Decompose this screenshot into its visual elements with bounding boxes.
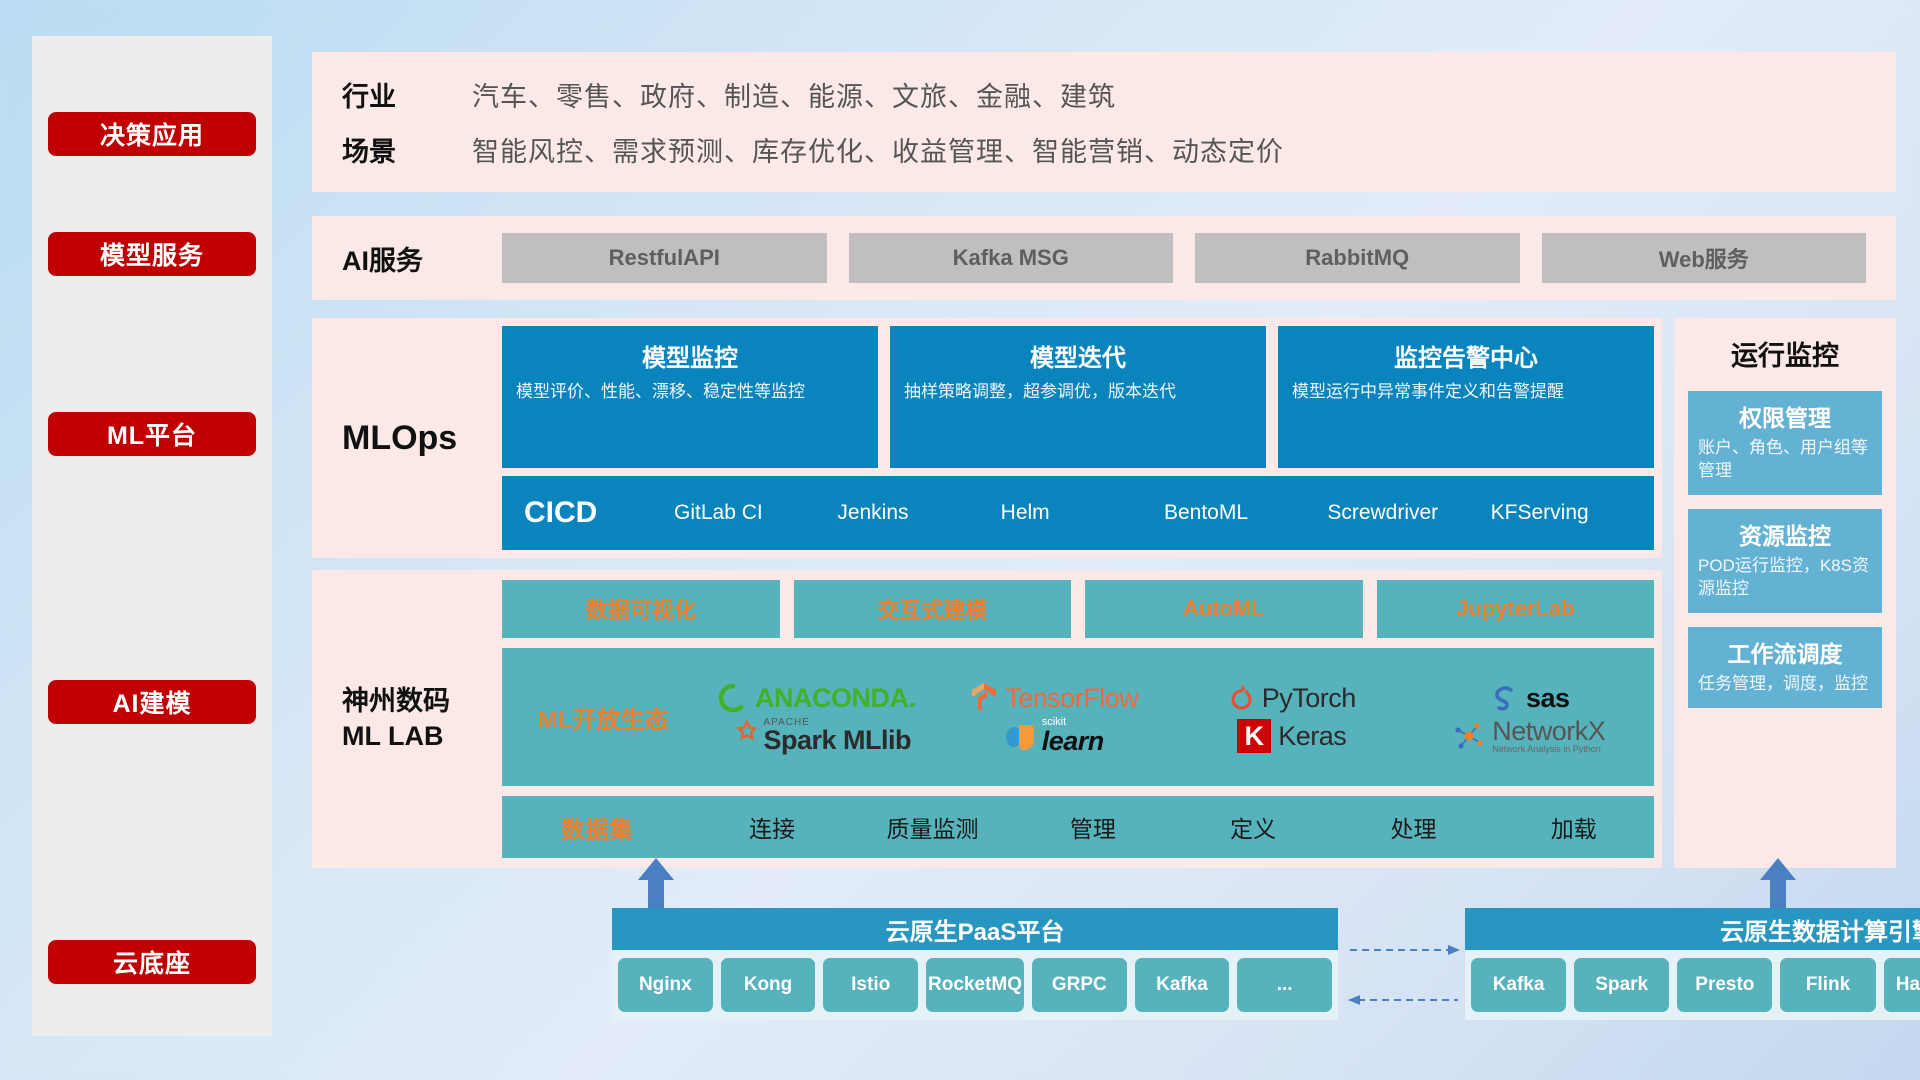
- ai-service-button-2[interactable]: RabbitMQ: [1195, 233, 1520, 283]
- cicd-item-2[interactable]: Helm: [1001, 501, 1164, 525]
- cicd-item-4[interactable]: Screwdriver: [1327, 501, 1490, 525]
- scene-label: 场景: [342, 130, 472, 169]
- paas-chip-0[interactable]: Nginx: [618, 958, 713, 1012]
- mlops-card-title: 模型迭代: [904, 338, 1252, 373]
- cicd-item-group: GitLab CIJenkinsHelmBentoMLScrewdriverKF…: [674, 501, 1654, 525]
- spark-mllib-label: Spark MLlib: [763, 728, 911, 754]
- dataset-item-0[interactable]: 连接: [692, 810, 852, 844]
- anaconda-label: ANACONDA.: [755, 683, 916, 714]
- networkx-icon: [1453, 721, 1485, 751]
- dataset-item-1[interactable]: 质量监测: [852, 810, 1012, 844]
- industry-label: 行业: [342, 75, 472, 114]
- pytorch-logo: PyTorch: [1228, 683, 1356, 714]
- band-mlops: MLOps 模型监控模型评价、性能、漂移、稳定性等监控模型迭代抽样策略调整，超参…: [312, 318, 1662, 558]
- scikit-learn-logo: scikit learn: [1005, 717, 1104, 755]
- lab-tool-2[interactable]: AutoML: [1085, 580, 1363, 638]
- mlops-card-desc: 抽样策略调整，超参调优，版本迭代: [904, 381, 1252, 404]
- cicd-bar: CICD GitLab CIJenkinsHelmBentoMLScrewdri…: [502, 476, 1654, 550]
- row-scene: 场景 智能风控、需求预测、库存优化、收益管理、智能营销、动态定价: [342, 130, 1896, 169]
- scikit-learn-icon: [1005, 720, 1035, 752]
- mlops-card-0[interactable]: 模型监控模型评价、性能、漂移、稳定性等监控: [502, 326, 878, 468]
- monitor-card-1[interactable]: 资源监控POD运行监控，K8S资源监控: [1688, 509, 1882, 613]
- rail-chip-label: 云底座: [113, 944, 191, 980]
- data-engine-chip-1[interactable]: Spark: [1574, 958, 1669, 1012]
- band-decision-apps: 行业 汽车、零售、政府、制造、能源、文旅、金融、建筑 场景 智能风控、需求预测、…: [312, 52, 1896, 192]
- mlops-card-desc: 模型评价、性能、漂移、稳定性等监控: [516, 381, 864, 404]
- sas-logo: sas: [1489, 683, 1570, 714]
- ai-service-title: AI服务: [342, 239, 502, 278]
- ml-lab-title-line1: 神州数码: [342, 684, 502, 719]
- rail-chip-3[interactable]: AI建模: [48, 680, 256, 724]
- data-engine-chip-3[interactable]: Flink: [1780, 958, 1875, 1012]
- monitor-card-0[interactable]: 权限管理账户、角色、用户组等管理: [1688, 391, 1882, 495]
- dataset-label: 数据集: [502, 810, 692, 845]
- cicd-item-1[interactable]: Jenkins: [837, 501, 1000, 525]
- paas-chip-1[interactable]: Kong: [721, 958, 816, 1012]
- dataset-bar: 数据集 连接质量监测管理定义处理加载: [502, 796, 1654, 858]
- monitor-card-title: 工作流调度: [1698, 635, 1872, 669]
- data-engine-chip-4[interactable]: Hadoop: [1884, 958, 1920, 1012]
- paas-chip-4[interactable]: GRPC: [1032, 958, 1127, 1012]
- mlops-card-group: 模型监控模型评价、性能、漂移、稳定性等监控模型迭代抽样策略调整，超参调优，版本迭…: [502, 326, 1654, 468]
- monitor-card-desc: 任务管理，调度，监控: [1698, 673, 1872, 696]
- sas-label: sas: [1526, 683, 1570, 714]
- mlops-card-2[interactable]: 监控告警中心模型运行中异常事件定义和告警提醒: [1278, 326, 1654, 468]
- eco-logo-grid: ANACONDA. TensorFlow: [698, 679, 1648, 755]
- ai-service-button-0[interactable]: RestfulAPI: [502, 233, 827, 283]
- rail-chip-4[interactable]: 云底座: [48, 940, 256, 984]
- mlops-card-1[interactable]: 模型迭代抽样策略调整，超参调优，版本迭代: [890, 326, 1266, 468]
- monitor-card-2[interactable]: 工作流调度任务管理，调度，监控: [1688, 627, 1882, 708]
- dataset-item-5[interactable]: 加载: [1494, 810, 1654, 844]
- rail-chip-1[interactable]: 模型服务: [48, 232, 256, 276]
- data-engine-chip-2[interactable]: Presto: [1677, 958, 1772, 1012]
- cloud-paas-group: 云原生PaaS平台 NginxKongIstioRocketMQGRPCKafk…: [612, 908, 1338, 1020]
- lab-tool-group: 数据可视化交互式建模AutoMLJupyterLab: [502, 580, 1654, 638]
- layer-rail: 决策应用模型服务ML平台AI建模云底座: [32, 36, 272, 1036]
- lab-tool-0[interactable]: 数据可视化: [502, 580, 780, 638]
- paas-chip-6[interactable]: ...: [1237, 958, 1332, 1012]
- mlops-card-title: 监控告警中心: [1292, 338, 1640, 373]
- keras-icon: K: [1237, 719, 1271, 753]
- mlops-card-title: 模型监控: [516, 338, 864, 373]
- cicd-item-0[interactable]: GitLab CI: [674, 501, 837, 525]
- rail-chip-label: ML平台: [107, 416, 197, 452]
- ml-lab-title: 神州数码 ML LAB: [342, 684, 502, 754]
- ml-open-ecosystem: ML开放生态 ANACONDA.: [502, 648, 1654, 786]
- pytorch-label: PyTorch: [1262, 683, 1356, 714]
- spark-icon: [722, 720, 756, 752]
- anaconda-icon: [718, 683, 748, 713]
- mlops-card-desc: 模型运行中异常事件定义和告警提醒: [1292, 381, 1640, 404]
- cicd-title: CICD: [524, 496, 674, 530]
- architecture-main: 行业 汽车、零售、政府、制造、能源、文旅、金融、建筑 场景 智能风控、需求预测、…: [300, 0, 1896, 1080]
- monitor-card-desc: 账户、角色、用户组等管理: [1698, 437, 1872, 483]
- lab-tool-3[interactable]: JupyterLab: [1377, 580, 1655, 638]
- networkx-label: NetworkX: [1492, 717, 1605, 745]
- industry-value: 汽车、零售、政府、制造、能源、文旅、金融、建筑: [472, 75, 1116, 114]
- monitor-card-desc: POD运行监控，K8S资源监控: [1698, 555, 1872, 601]
- monitor-card-title: 权限管理: [1698, 399, 1872, 433]
- arrow-head-right-icon: [1448, 945, 1460, 955]
- data-engine-chip-0[interactable]: Kafka: [1471, 958, 1566, 1012]
- cloud-data-engine-title: 云原生数据计算引擎: [1465, 908, 1920, 950]
- sas-icon: [1489, 683, 1519, 713]
- tensorflow-logo: TensorFlow: [970, 682, 1138, 714]
- ai-service-button-1[interactable]: Kafka MSG: [849, 233, 1174, 283]
- lab-tool-1[interactable]: 交互式建模: [794, 580, 1072, 638]
- networkx-logo: NetworkX Network Analysis in Python: [1453, 717, 1605, 755]
- rail-chip-label: 模型服务: [100, 236, 204, 272]
- runtime-monitor-title: 运行监控: [1731, 334, 1839, 373]
- cloud-paas-chip-group: NginxKongIstioRocketMQGRPCKafka...: [612, 950, 1338, 1020]
- rail-chip-label: AI建模: [112, 684, 191, 720]
- dataset-item-group: 连接质量监测管理定义处理加载: [692, 810, 1654, 844]
- cloud-data-engine-group: 云原生数据计算引擎 KafkaSparkPrestoFlinkHadoopSto…: [1465, 908, 1920, 1020]
- cloud-data-engine-chip-group: KafkaSparkPrestoFlinkHadoopStorm...: [1465, 950, 1920, 1020]
- eco-label: ML开放生态: [508, 700, 698, 735]
- scene-value: 智能风控、需求预测、库存优化、收益管理、智能营销、动态定价: [472, 130, 1284, 169]
- networkx-sub-label: Network Analysis in Python: [1492, 745, 1605, 754]
- cloud-paas-title: 云原生PaaS平台: [612, 908, 1338, 950]
- ai-service-button-3[interactable]: Web服务: [1542, 233, 1867, 283]
- paas-chip-3[interactable]: RocketMQ: [926, 958, 1024, 1012]
- pytorch-icon: [1228, 683, 1255, 713]
- dataset-item-2[interactable]: 管理: [1013, 810, 1173, 844]
- rail-chip-0[interactable]: 决策应用: [48, 112, 256, 156]
- row-industry: 行业 汽车、零售、政府、制造、能源、文旅、金融、建筑: [342, 75, 1896, 114]
- paas-chip-5[interactable]: Kafka: [1135, 958, 1230, 1012]
- monitor-card-group: 权限管理账户、角色、用户组等管理资源监控POD运行监控，K8S资源监控工作流调度…: [1688, 391, 1882, 708]
- cicd-item-3[interactable]: BentoML: [1164, 501, 1327, 525]
- cicd-item-5[interactable]: KFServing: [1491, 501, 1654, 525]
- mlops-title: MLOps: [342, 419, 502, 458]
- rail-chip-label: 决策应用: [100, 116, 204, 152]
- paas-chip-2[interactable]: Istio: [823, 958, 918, 1012]
- arrow-head-left-icon: [1348, 995, 1360, 1005]
- tensorflow-label: TensorFlow: [1005, 683, 1138, 714]
- keras-label: Keras: [1278, 721, 1346, 752]
- band-ml-lab: 神州数码 ML LAB 数据可视化交互式建模AutoMLJupyterLab M…: [312, 570, 1662, 868]
- ml-lab-title-line2: ML LAB: [342, 719, 502, 754]
- ai-service-button-group: RestfulAPIKafka MSGRabbitMQWeb服务: [502, 233, 1866, 283]
- dataset-item-4[interactable]: 处理: [1333, 810, 1493, 844]
- rail-chip-2[interactable]: ML平台: [48, 412, 256, 456]
- scikit-learn-label: learn: [1042, 728, 1104, 755]
- tensorflow-icon: [970, 682, 998, 714]
- monitor-card-title: 资源监控: [1698, 517, 1872, 551]
- dataset-item-3[interactable]: 定义: [1173, 810, 1333, 844]
- spark-mllib-logo: APACHE Spark MLlib: [722, 718, 911, 753]
- anaconda-logo: ANACONDA.: [718, 683, 916, 714]
- band-ai-service: AI服务 RestfulAPIKafka MSGRabbitMQWeb服务: [312, 216, 1896, 300]
- keras-logo: K Keras: [1237, 719, 1346, 753]
- band-runtime-monitor: 运行监控 权限管理账户、角色、用户组等管理资源监控POD运行监控，K8S资源监控…: [1674, 318, 1896, 868]
